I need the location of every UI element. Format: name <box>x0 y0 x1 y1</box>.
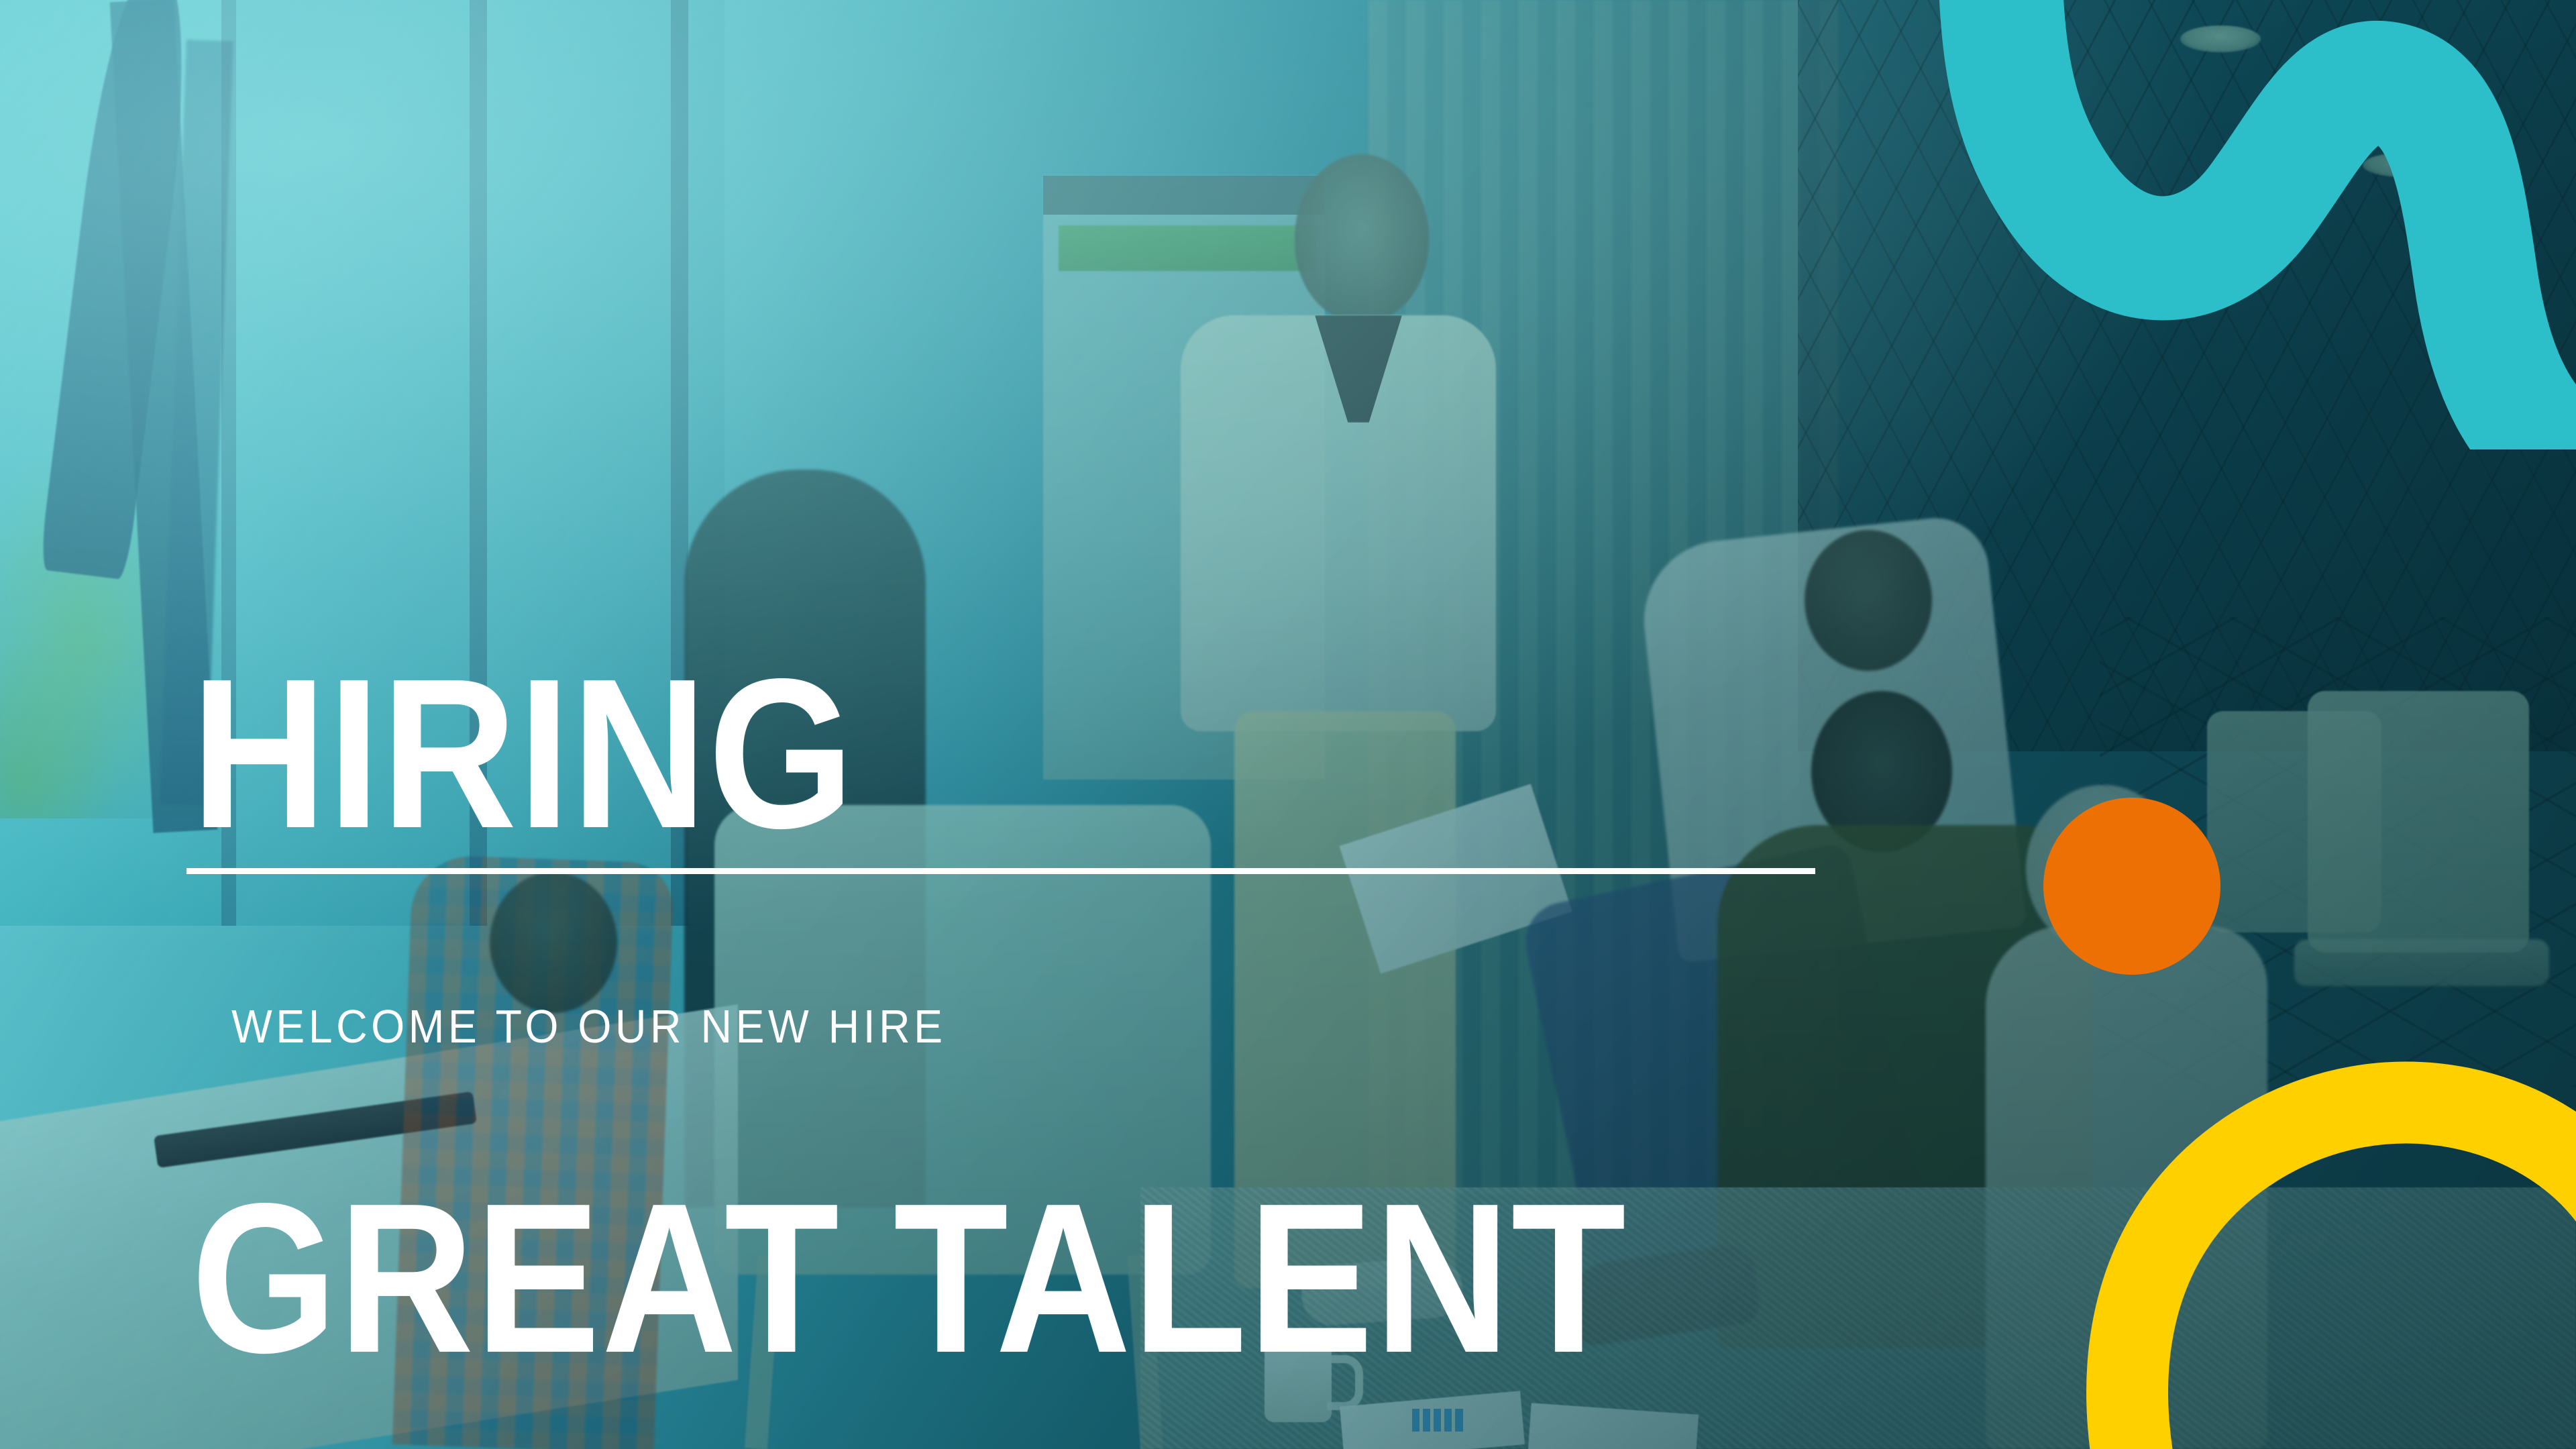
title-divider-rule <box>186 868 1815 874</box>
headline-line-2: GREAT TALENT <box>191 1191 1627 1366</box>
banner-subtitle: WELCOME TO OUR NEW HIRE <box>231 1000 947 1053</box>
page-title: HIRING GREAT TALENT <box>191 317 1627 1449</box>
headline-line-1: HIRING <box>191 667 1627 842</box>
banner-content: HIRING GREAT TALENT WELCOME TO OUR NEW H… <box>0 0 2576 1449</box>
hiring-banner: HIRING GREAT TALENT WELCOME TO OUR NEW H… <box>0 0 2576 1449</box>
